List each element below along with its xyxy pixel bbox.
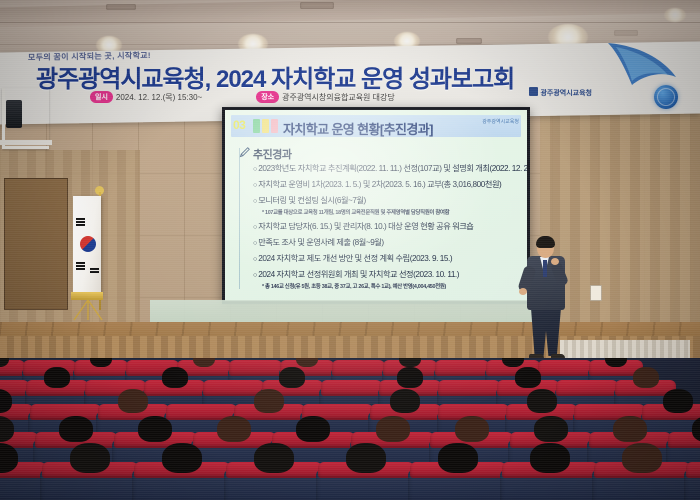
seat-headrest	[686, 462, 700, 478]
auditorium-photo: 모두의 꿈이 시작되는 곳, 시작학교! 광주광역시교육청, 2024 자치학교…	[0, 0, 700, 500]
audience-seat	[684, 462, 700, 500]
date-value: 2024. 12. 12.(목) 15:30~	[116, 93, 202, 102]
slide-left-rule	[239, 148, 240, 289]
ceiling-vent	[300, 2, 334, 9]
seat-headrest	[538, 360, 592, 376]
education-office-mark-icon	[529, 87, 538, 96]
slide-body: 추진경과 2023학년도 자치학교 추진계획(2022. 11. 11.) 선정…	[239, 146, 519, 295]
ceiling-vent	[614, 30, 638, 36]
audience-member	[59, 416, 93, 442]
slide-accent-bars	[253, 119, 278, 133]
audience-seating	[0, 358, 700, 500]
audience-member	[376, 416, 410, 442]
audience-member	[44, 367, 70, 388]
seat-headrest	[229, 360, 283, 376]
taegeuk-symbol	[80, 236, 96, 252]
audience-member	[515, 367, 541, 388]
slide-title: 자치학교 운영 현황[추진경과]	[283, 119, 433, 138]
presenter-hand-right	[551, 258, 559, 265]
flag-stand	[70, 300, 106, 322]
audience-member	[622, 443, 662, 473]
banner-org-name: 광주광역시교육청	[540, 90, 592, 97]
slide-bullet: 자치학교 운영비 1차(2023. 1. 5.) 및 2차(2023. 5. 1…	[253, 180, 519, 190]
wall-speaker	[6, 100, 22, 128]
audience-member	[534, 416, 568, 442]
audience-member	[138, 416, 172, 442]
side-door	[4, 178, 68, 310]
slide-bullet: 만족도 조사 및 운영사례 제출 (8월~9월)	[253, 238, 519, 248]
ceiling-light-icon	[664, 8, 686, 22]
slide-bullet-list: 2023학년도 자치학교 추진계획(2022. 11. 11.) 선정(107교…	[253, 164, 519, 296]
presenter	[521, 238, 573, 366]
presenter-tie	[543, 260, 547, 277]
slide-note: 107교를 대상으로 교육청 11개팀, 18명의 교육전문직원 및 주제영역별…	[262, 208, 519, 216]
flag-fringe	[71, 292, 103, 300]
ceiling-vent	[106, 4, 136, 10]
place-value: 광주광역시창의융합교육원 대강당	[282, 93, 395, 102]
audience-member	[530, 443, 570, 473]
presenter-hair	[536, 236, 555, 248]
pencil-icon	[239, 147, 250, 158]
audience-member	[613, 416, 647, 442]
speaker-shelf	[0, 140, 52, 145]
audience-member	[162, 443, 202, 473]
slide-bullet: 자치학교 담당자(6. 15.) 및 관리자(8. 10.) 대상 운영 현황 …	[253, 222, 519, 232]
audience-member	[70, 443, 110, 473]
audience-member	[254, 389, 284, 413]
slide-section-heading: 추진경과	[253, 146, 291, 162]
seat-headrest	[321, 380, 382, 396]
seat-headrest	[332, 360, 386, 376]
ceiling-beam	[0, 0, 700, 27]
slide-bullet: 2024 자치학교 선정위원회 개최 및 자치학교 선정(2023. 10. 1…	[253, 270, 519, 280]
presenter-legs	[531, 308, 561, 356]
ceiling-vent	[456, 38, 482, 44]
banner-meta: 일시2024. 12. 12.(목) 15:30~장소광주광역시창의융합교육원 …	[90, 91, 395, 103]
seat-headrest	[556, 380, 617, 396]
slide-note: 총 146교 신청(유 5원, 초등 38교, 중 37교, 고 26교, 특수…	[262, 282, 519, 290]
place-label: 장소	[256, 91, 279, 103]
audience-member	[217, 416, 251, 442]
audience-member	[279, 367, 305, 388]
seat-headrest	[438, 380, 499, 396]
banner-org-logo: 광주광역시교육청	[529, 87, 592, 98]
date-label: 일시	[90, 91, 113, 103]
korean-flag-icon	[73, 196, 101, 296]
audience-member	[254, 443, 294, 473]
audience-member	[346, 443, 386, 473]
ceiling-seam	[0, 22, 700, 23]
accent-bar-yellow	[262, 119, 269, 133]
accent-bar-green	[253, 119, 260, 133]
audience-member	[118, 389, 148, 413]
slide-bullet: 모니터링 및 컨설팅 실시(6월~7월)	[253, 196, 519, 206]
slide-bullet: 2024 자치학교 제도 개선 방안 및 선정 계획 수립(2023. 9. 1…	[253, 254, 519, 264]
audience-member	[633, 367, 659, 388]
audience-member	[296, 416, 330, 442]
audience-member	[663, 389, 693, 413]
accent-bar-pink	[271, 119, 278, 133]
audience-member	[455, 416, 489, 442]
audience-member	[390, 389, 420, 413]
banner-globe-icon	[654, 85, 678, 109]
audience-member	[162, 367, 188, 388]
audience-member	[527, 389, 557, 413]
projection-screen: 03 자치학교 운영 현황[추진경과] 광주광역시교육청 추진경과 2023학년…	[222, 107, 530, 304]
audience-member	[438, 443, 478, 473]
presenter-hand-left	[519, 288, 527, 295]
audience-member	[397, 367, 423, 388]
banner-title: 광주광역시교육청, 2024 자치학교 운영 성과보고회	[36, 59, 514, 94]
seat-headrest	[435, 360, 489, 376]
wall-outlet	[590, 285, 602, 301]
slide-brand: 광주광역시교육청	[482, 118, 519, 125]
slide-number: 03	[233, 118, 245, 132]
slide-bullet: 2023학년도 자치학교 추진계획(2022. 11. 11.) 선정(107교…	[253, 164, 519, 174]
